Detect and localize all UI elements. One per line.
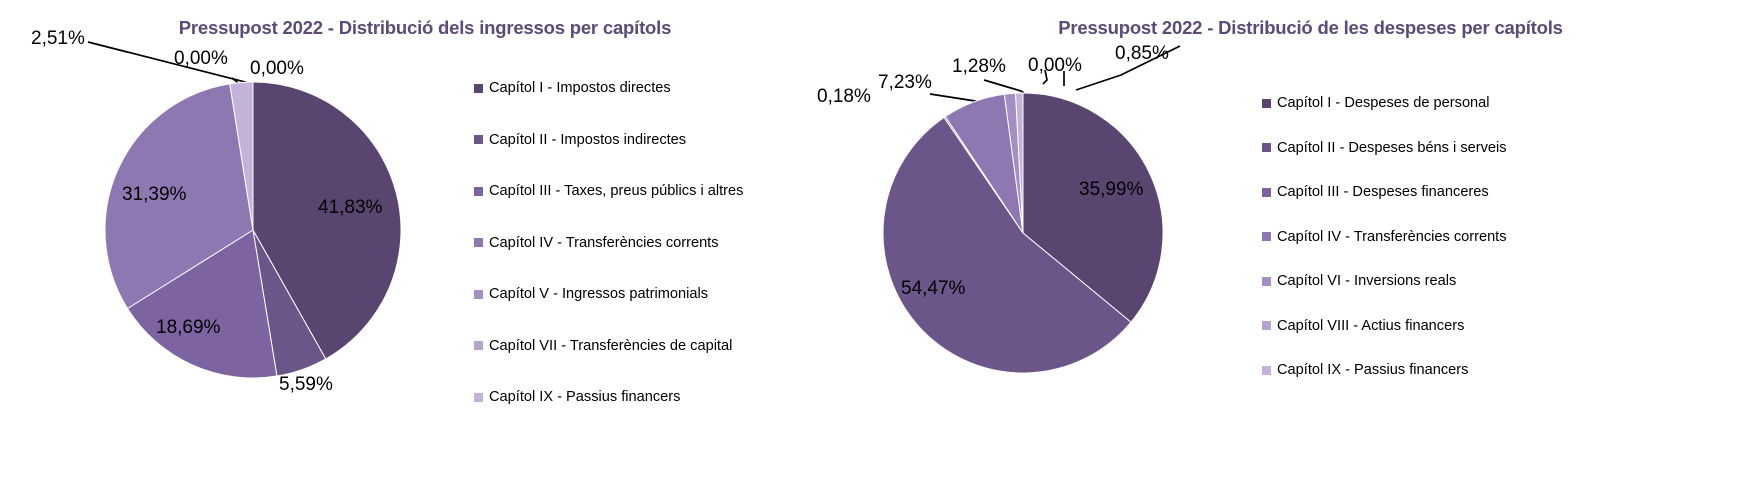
legend-item-4[interactable]: Capítol IV - Transferències corrents [474,233,743,253]
legend-swatch-icon [1262,232,1271,241]
legend-item-label: Capítol II - Impostos indirectes [489,130,686,150]
page-title-ingressos: Pressupost 2022 - Distribució dels ingre… [0,17,865,39]
legend-item-1[interactable]: Capítol I - Despeses de personal [1262,93,1507,113]
pct-label-capitol-ix: 0,85% [1115,44,1169,63]
legend-swatch-icon [474,135,483,144]
legend-item-label: Capítol I - Despeses de personal [1277,93,1490,113]
legend-swatch-icon [1262,188,1271,197]
legend-swatch-icon [474,187,483,196]
pct-label-capitol-i: 35,99% [1079,180,1143,199]
page-title-despeses: Pressupost 2022 - Distribució de les des… [870,17,1751,39]
legend-swatch-icon [474,393,483,402]
legend-item-label: Capítol VII - Transferències de capital [489,336,732,356]
legend-item-7[interactable]: Capítol IX - Passius financers [1262,360,1507,380]
legend-swatch-icon [1262,143,1271,152]
legend-item-6[interactable]: Capítol VII - Transferències de capital [474,336,743,356]
legend-item-label: Capítol I - Impostos directes [489,78,671,98]
legend-despeses: Capítol I - Despeses de personalCapítol … [1262,93,1507,405]
legend-item-label: Capítol VIII - Actius financers [1277,316,1464,336]
pct-label-capitol-vii: 0,00% [174,49,228,68]
legend-item-label: Capítol IX - Passius financers [1277,360,1468,380]
pct-label-capitol-vi: 1,28% [952,57,1006,76]
legend-item-3[interactable]: Capítol III - Despeses financeres [1262,182,1507,202]
legend-item-4[interactable]: Capítol IV - Transferències corrents [1262,227,1507,247]
legend-ingressos: Capítol I - Impostos directesCapítol II … [474,78,743,439]
legend-item-2[interactable]: Capítol II - Impostos indirectes [474,130,743,150]
legend-item-label: Capítol III - Taxes, preus públics i alt… [489,181,743,201]
pct-label-capitol-viii: 0,00% [1028,56,1082,75]
legend-item-label: Capítol IV - Transferències corrents [489,233,719,253]
chart-panel-despeses: Pressupost 2022 - Distribució de les des… [880,0,1761,498]
legend-item-label: Capítol IV - Transferències corrents [1277,227,1507,247]
legend-swatch-icon [1262,277,1271,286]
pie-chart-ingressos [105,82,401,378]
pie-chart-despeses [883,93,1163,373]
legend-item-label: Capítol II - Despeses béns i serveis [1277,138,1507,158]
pct-label-capitol-iv: 31,39% [122,185,186,204]
pct-label-capitol-iii: 0,18% [817,87,871,106]
legend-item-6[interactable]: Capítol VIII - Actius financers [1262,316,1507,336]
pct-label-capitol-v: 0,00% [250,59,304,78]
legend-swatch-icon [474,341,483,350]
pct-label-capitol-iv: 7,23% [878,73,932,92]
legend-item-5[interactable]: Capítol V - Ingressos patrimonials [474,284,743,304]
legend-swatch-icon [1262,99,1271,108]
legend-item-label: Capítol V - Ingressos patrimonials [489,284,708,304]
legend-item-label: Capítol IX - Passius financers [489,387,680,407]
pct-label-capitol-ii: 54,47% [901,279,965,298]
legend-swatch-icon [474,84,483,93]
legend-item-5[interactable]: Capítol VI - Inversions reals [1262,271,1507,291]
legend-item-7[interactable]: Capítol IX - Passius financers [474,387,743,407]
legend-swatch-icon [474,238,483,247]
legend-item-label: Capítol III - Despeses financeres [1277,182,1489,202]
legend-item-label: Capítol VI - Inversions reals [1277,271,1456,291]
pct-label-capitol-ix: 2,51% [31,29,85,48]
legend-item-3[interactable]: Capítol III - Taxes, preus públics i alt… [474,181,743,201]
legend-swatch-icon [1262,321,1271,330]
pct-label-capitol-iii: 18,69% [156,318,220,337]
legend-item-2[interactable]: Capítol II - Despeses béns i serveis [1262,138,1507,158]
chart-panel-ingressos: Pressupost 2022 - Distribució dels ingre… [0,0,880,498]
pct-label-capitol-i: 41,83% [318,198,382,217]
legend-swatch-icon [1262,366,1271,375]
legend-item-1[interactable]: Capítol I - Impostos directes [474,78,743,98]
pct-label-capitol-ii: 5,59% [279,375,333,394]
legend-swatch-icon [474,290,483,299]
